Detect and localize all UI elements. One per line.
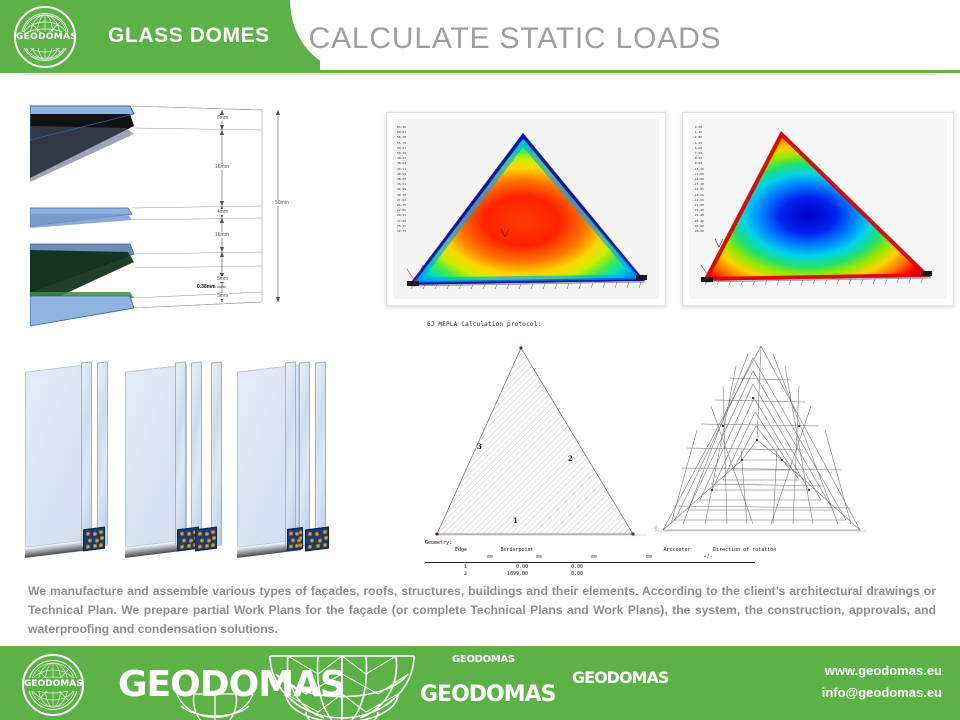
legend-tick: -28.00 bbox=[693, 229, 719, 234]
fea-deflection-plot-card[interactable]: -0.00-1.40-2.80-4.20-5.60-7.00-8.40-9.80… bbox=[682, 112, 954, 306]
geometry-triangle-diagram: 1 2 3 bbox=[435, 338, 650, 543]
unit-pm: +/- bbox=[678, 554, 738, 561]
edge-label-1: 1 bbox=[513, 516, 518, 525]
cell-borderpoint: 0.00 bbox=[470, 564, 528, 571]
col-borderpoint: Borderpoint bbox=[470, 547, 564, 554]
fea-stress-plot-canvas: 63.3660.8358.3055.7653.2350.7048.1745.64… bbox=[393, 119, 659, 299]
desiccant-spacer bbox=[287, 527, 303, 551]
edge-label-2: 2 bbox=[568, 454, 573, 463]
dim-label-038mm: 0.38mm bbox=[196, 284, 217, 290]
fea-deflection-plot-canvas: -0.00-1.40-2.80-4.20-5.60-7.00-8.40-9.80… bbox=[689, 119, 947, 299]
footer-wordmark-medium: GEODOMAS bbox=[420, 682, 556, 707]
geometry-table: Geometry: Edge Borderpoint Arccenter Dir… bbox=[425, 540, 845, 578]
unit-mm-2: mm bbox=[513, 554, 565, 561]
desiccant-spacer bbox=[305, 527, 329, 552]
footer-seal-wordmark: GEODOMAS bbox=[24, 679, 82, 689]
geometry-section-label: Geometry: bbox=[425, 540, 845, 547]
cell-borderpoint: 1899.00 bbox=[470, 571, 528, 578]
quadruple-glazed-unit bbox=[237, 362, 339, 560]
header-thin-rule bbox=[24, 74, 936, 75]
cell-edge: 2 bbox=[425, 571, 467, 578]
page-title: CALCULATE STATIC LOADS bbox=[0, 22, 960, 56]
legend-tick: 12.73 bbox=[397, 229, 423, 234]
table-row: 1 0.00 0.00 bbox=[425, 564, 845, 571]
dim-label-16mm-a: 16mm bbox=[214, 164, 230, 170]
fe-mesh-svg bbox=[653, 338, 868, 543]
footer-wordmark-large: GEODOMAS bbox=[118, 664, 345, 705]
geometry-table-rule bbox=[425, 562, 755, 563]
footer-wordmark-tiny: GEODOMAS bbox=[452, 654, 515, 665]
dim-label-6mm: 6mm bbox=[216, 115, 229, 121]
glass-pane bbox=[299, 361, 310, 546]
unit-mm-4: mm bbox=[623, 554, 675, 561]
geometry-table-units: mm mm mm mm +/- bbox=[425, 554, 845, 561]
unit-mm-3: mm bbox=[568, 554, 620, 561]
footer-geodomas-seal-icon[interactable]: GEODOMAS bbox=[22, 654, 84, 716]
deflection-legend-scale: -0.00-1.40-2.80-4.20-5.60-7.00-8.40-9.80… bbox=[693, 125, 719, 289]
mepla-protocol-title: 6J MEPLA Calculation protocol: bbox=[427, 321, 541, 328]
geometry-table-header: Edge Borderpoint Arccenter Direction of … bbox=[425, 547, 845, 554]
dim-label-5mm-b: 5mm bbox=[216, 293, 229, 299]
glass-pane bbox=[211, 361, 222, 546]
triple-glazed-unit bbox=[125, 362, 233, 560]
glass-pane bbox=[315, 361, 326, 546]
slide-root: GEODOMAS GLASS DOMES CALCULATE STATIC LO… bbox=[0, 0, 960, 720]
cell-arccenter: 0.00 bbox=[531, 571, 583, 578]
page-footer: GEODOMAS bbox=[0, 646, 960, 720]
header-accent-rule bbox=[0, 70, 960, 73]
stress-legend-scale: 63.3660.8358.3055.7653.2350.7048.1745.64… bbox=[397, 125, 423, 289]
dim-label-4mm: 4mm bbox=[216, 209, 229, 215]
glass-pane-back bbox=[25, 364, 87, 548]
footer-wordmark-small: GEODOMAS bbox=[572, 668, 668, 687]
fea-stress-plot-card[interactable]: 63.3660.8358.3055.7653.2350.7048.1745.64… bbox=[386, 112, 666, 306]
glass-pane bbox=[191, 361, 202, 546]
footer-email-link[interactable]: info@geodomas.eu bbox=[822, 682, 942, 704]
page-header: GEODOMAS GLASS DOMES CALCULATE STATIC LO… bbox=[0, 0, 960, 78]
col-edge: Edge bbox=[425, 547, 467, 554]
mepla-calculation-protocol: 6J MEPLA Calculation protocol: 1 2 3 bbox=[425, 318, 930, 580]
cell-arccenter: 0.00 bbox=[531, 564, 583, 571]
stress-contour-svg bbox=[393, 119, 659, 299]
insulated-glass-units-graphic bbox=[25, 362, 325, 560]
hatched-triangle-svg bbox=[435, 338, 650, 543]
glass-pane bbox=[97, 361, 108, 546]
footer-website-link[interactable]: www.geodomas.eu bbox=[822, 660, 942, 682]
fe-mesh-diagram bbox=[653, 338, 868, 543]
footer-contact-block: www.geodomas.eu info@geodomas.eu bbox=[822, 660, 942, 704]
desiccant-spacer bbox=[83, 527, 105, 552]
glass-pane bbox=[175, 361, 186, 546]
deflection-contour-svg bbox=[689, 119, 947, 299]
double-glazed-unit bbox=[25, 362, 121, 560]
dim-label-overall: 50mm bbox=[274, 200, 290, 206]
edge-label-3: 3 bbox=[477, 442, 482, 451]
dim-label-16mm-b: 16mm bbox=[214, 232, 230, 238]
dim-label-5mm-a: 5mm bbox=[216, 276, 229, 282]
cell-edge: 1 bbox=[425, 564, 467, 571]
glass-pane bbox=[285, 361, 296, 546]
glass-pane bbox=[81, 361, 92, 546]
desiccant-spacer bbox=[195, 527, 217, 552]
description-paragraph: We manufacture and assemble various type… bbox=[28, 582, 936, 639]
col-rotation: Direction of rotation bbox=[713, 547, 833, 554]
section-drawing-svg bbox=[30, 96, 330, 346]
glass-buildup-section-drawing: 6mm 16mm 4mm 16mm 5mm 0.38mm 5mm 50mm bbox=[30, 96, 330, 346]
col-arccenter: Arccenter bbox=[644, 547, 710, 554]
unit-mm-1: mm bbox=[470, 554, 510, 561]
table-row: 2 1899.00 0.00 bbox=[425, 571, 845, 578]
